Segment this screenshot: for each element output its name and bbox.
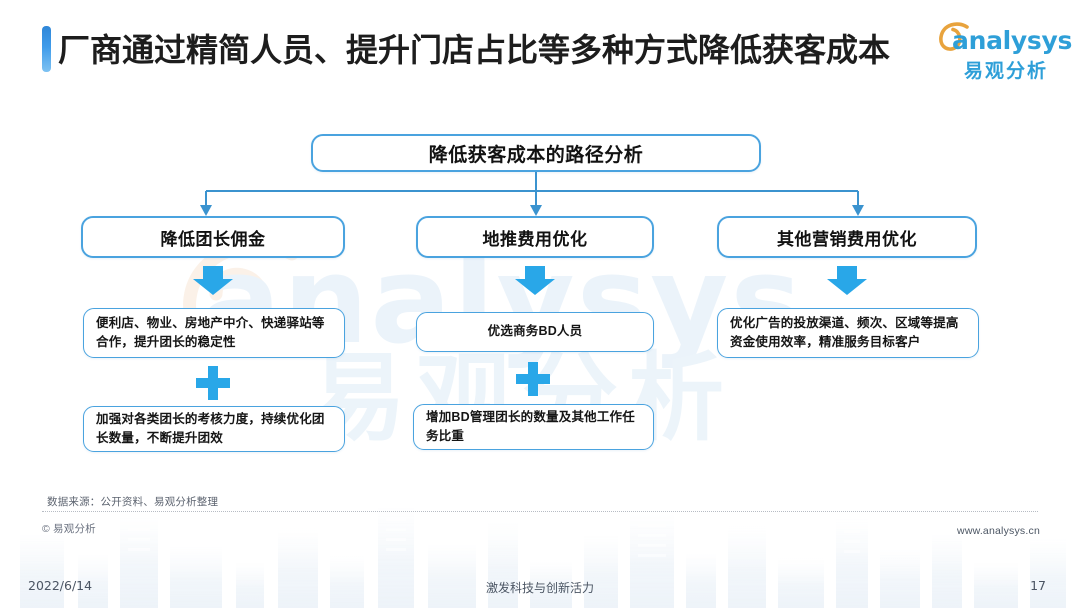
footer-slogan: 激发科技与创新活力 <box>0 579 1080 596</box>
flow-leaf-text-0-0: 便利店、物业、房地产中介、快递驿站等合作，提升团长的稳定性 <box>96 314 332 353</box>
flow-leaf-node-0-0[interactable]: 便利店、物业、房地产中介、快递驿站等合作，提升团长的稳定性 <box>83 308 345 358</box>
plus-icon <box>516 362 550 396</box>
flow-root-label: 降低获客成本的路径分析 <box>429 140 644 167</box>
data-source-note: 数据来源：公开资料、易观分析整理 <box>47 494 218 509</box>
flow-leaf-text-1-0: 优选商务BD人员 <box>488 322 583 341</box>
flow-leaf-node-2-0[interactable]: 优化广告的投放渠道、频次、区域等提高资金使用效率，精准服务目标客户 <box>717 308 979 358</box>
flow-category-node-2[interactable]: 其他营销费用优化 <box>717 216 977 258</box>
flow-category-node-1[interactable]: 地推费用优化 <box>416 216 654 258</box>
flow-category-node-0[interactable]: 降低团长佣金 <box>81 216 345 258</box>
down-arrow-icon <box>825 266 869 296</box>
website-url[interactable]: www.analysys.cn <box>957 525 1040 537</box>
footer-divider <box>42 511 1038 512</box>
flow-chart: 降低获客成本的路径分析 降低团长佣金 地推费用优化 其他营销费用优化 <box>0 0 1080 470</box>
flow-category-label-0: 降低团长佣金 <box>161 225 266 250</box>
flow-leaf-node-0-1[interactable]: 加强对各类团长的考核力度，持续优化团长数量，不断提升团效 <box>83 406 345 452</box>
slide-canvas: analysys 易观分析 厂商通过精简人员、提升门店占比等多种方式降低获客成本… <box>0 0 1080 608</box>
down-arrow-icon <box>513 266 557 296</box>
flow-root-node[interactable]: 降低获客成本的路径分析 <box>311 134 761 172</box>
flow-leaf-text-1-1: 增加BD管理团长的数量及其他工作任务比重 <box>426 408 641 447</box>
footer-page-number: 17 <box>1030 578 1046 593</box>
flow-leaf-text-0-1: 加强对各类团长的考核力度，持续优化团长数量，不断提升团效 <box>96 410 332 449</box>
flow-category-label-2: 其他营销费用优化 <box>777 225 917 250</box>
flow-leaf-node-1-0[interactable]: 优选商务BD人员 <box>416 312 654 352</box>
flow-leaf-text-2-0: 优化广告的投放渠道、频次、区域等提高资金使用效率，精准服务目标客户 <box>730 314 966 353</box>
down-arrow-icon <box>191 266 235 296</box>
copyright-note: © 易观分析 <box>42 521 96 536</box>
flow-category-label-1: 地推费用优化 <box>483 225 588 250</box>
plus-icon <box>196 366 230 400</box>
flow-leaf-node-1-1[interactable]: 增加BD管理团长的数量及其他工作任务比重 <box>413 404 654 450</box>
